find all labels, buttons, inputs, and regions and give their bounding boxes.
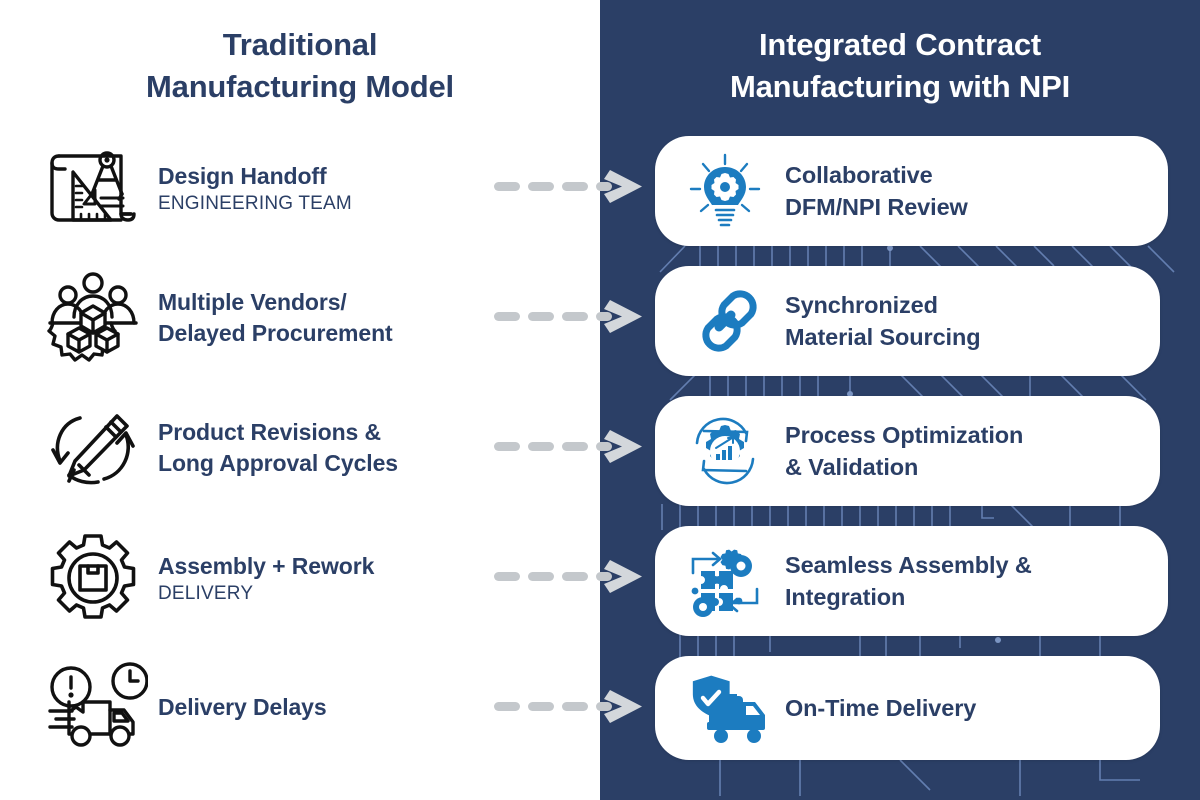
left-row-text: Assembly + Rework DELIVERY	[152, 551, 514, 606]
card-seamless-assembly-integration[interactable]: Seamless Assembly & Integration	[655, 526, 1168, 636]
left-heading-line2: Manufacturing Model	[40, 66, 560, 108]
chain-link-icon	[677, 282, 773, 360]
right-heading-line2: Manufacturing with NPI	[640, 66, 1160, 108]
card-label: Seamless Assembly & Integration	[773, 549, 1168, 614]
gear-package-icon	[34, 531, 152, 625]
left-row-multiple-vendors: Multiple Vendors/ Delayed Procurement	[34, 263, 514, 373]
card-process-optimization-validation[interactable]: Process Optimization & Validation	[655, 396, 1160, 506]
card-label-line2: DFM/NPI Review	[785, 191, 1154, 223]
left-row-subtitle: DELIVERY	[158, 582, 514, 606]
left-row-text: Multiple Vendors/ Delayed Procurement	[152, 287, 514, 349]
left-row-title: Product Revisions &	[158, 417, 514, 448]
left-row-title: Delivery Delays	[158, 692, 514, 723]
card-label: On-Time Delivery	[773, 692, 1160, 724]
left-row-design-handoff: Design Handoff ENGINEERING TEAM	[34, 133, 514, 243]
card-label: Synchronized Material Sourcing	[773, 289, 1160, 354]
left-row-delivery-delays: Delivery Delays	[34, 653, 514, 763]
left-row-title-2: Delayed Procurement	[158, 318, 514, 349]
card-label-line1: Process Optimization	[785, 419, 1146, 451]
right-panel-heading: Integrated Contract Manufacturing with N…	[640, 24, 1160, 108]
delayed-truck-clock-icon	[34, 661, 152, 755]
integrated-npi-panel: Integrated Contract Manufacturing with N…	[600, 0, 1200, 800]
pencil-revision-cycle-icon	[34, 401, 152, 495]
card-label-line2: Integration	[785, 581, 1154, 613]
card-label-line2: Material Sourcing	[785, 321, 1146, 353]
left-row-text: Design Handoff ENGINEERING TEAM	[152, 161, 514, 216]
card-label-line1: Synchronized	[785, 289, 1146, 321]
card-label-line1: Collaborative	[785, 159, 1154, 191]
flow-arrow-3	[492, 428, 652, 468]
card-label: Collaborative DFM/NPI Review	[773, 159, 1168, 224]
multiple-vendors-people-gear-icon	[34, 270, 152, 366]
left-row-product-revisions: Product Revisions & Long Approval Cycles	[34, 393, 514, 503]
left-row-title: Design Handoff	[158, 161, 514, 192]
left-row-assembly-rework: Assembly + Rework DELIVERY	[34, 523, 514, 633]
left-heading-line1: Traditional	[40, 24, 560, 66]
card-label: Process Optimization & Validation	[773, 419, 1160, 484]
flow-arrow-5	[492, 688, 652, 728]
traditional-model-panel: Traditional Manufacturing Model	[0, 0, 600, 800]
card-collaborative-dfm-npi-review[interactable]: Collaborative DFM/NPI Review	[655, 136, 1168, 246]
left-row-title: Assembly + Rework	[158, 551, 514, 582]
infographic-root: Traditional Manufacturing Model	[0, 0, 1200, 800]
blueprint-compass-icon	[34, 142, 152, 234]
gear-chart-refresh-icon	[677, 411, 773, 491]
card-synchronized-material-sourcing[interactable]: Synchronized Material Sourcing	[655, 266, 1160, 376]
card-label-line1: Seamless Assembly &	[785, 549, 1154, 581]
lightbulb-gear-icon	[677, 151, 773, 231]
left-row-text: Product Revisions & Long Approval Cycles	[152, 417, 514, 479]
puzzle-gears-icon	[677, 539, 773, 623]
left-row-text: Delivery Delays	[152, 692, 514, 723]
flow-arrow-2	[492, 298, 652, 338]
card-label-line1: On-Time Delivery	[785, 692, 1146, 724]
card-on-time-delivery[interactable]: On-Time Delivery	[655, 656, 1160, 760]
card-label-line2: & Validation	[785, 451, 1146, 483]
left-panel-heading: Traditional Manufacturing Model	[40, 24, 560, 108]
flow-arrow-1	[492, 168, 652, 208]
right-heading-line1: Integrated Contract	[640, 24, 1160, 66]
left-row-title-2: Long Approval Cycles	[158, 448, 514, 479]
flow-arrow-4	[492, 558, 652, 598]
left-row-subtitle: ENGINEERING TEAM	[158, 192, 514, 216]
left-row-title: Multiple Vendors/	[158, 287, 514, 318]
shield-truck-icon	[677, 670, 773, 746]
